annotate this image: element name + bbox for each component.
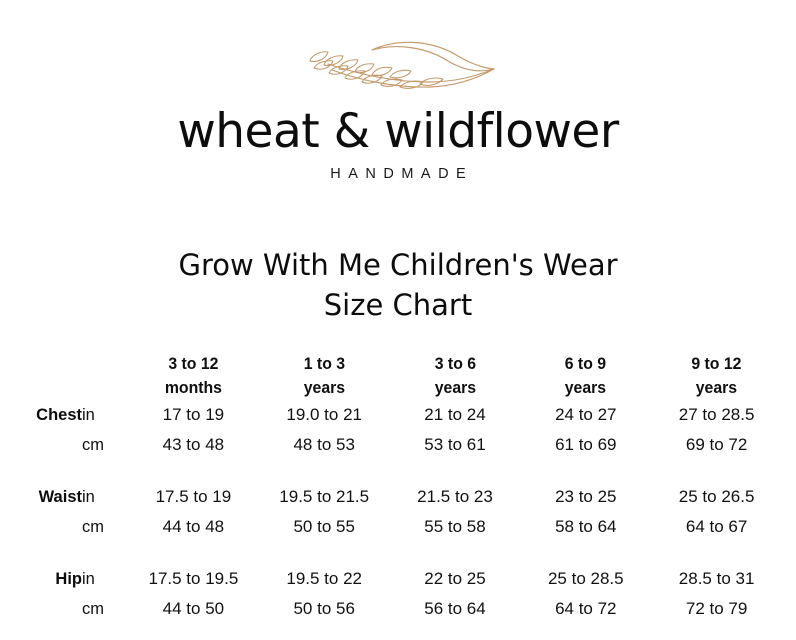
page-title: Grow With Me Children's Wear Size Chart: [0, 246, 796, 325]
column-header-line-2: years: [525, 376, 647, 400]
unit-label-in: in: [82, 400, 128, 430]
table-header: 3 to 12 months 1 to 3 years 3 to 6 years…: [14, 352, 782, 400]
cell-waist-in-9-to-12-years: 25 to 26.5: [651, 482, 782, 512]
column-header-line-1: 1 to 3: [263, 352, 385, 376]
column-header-line-1: 3 to 12: [133, 352, 255, 376]
row-spacer-cell: [14, 542, 82, 564]
row-spacer-cell: [128, 542, 259, 564]
cell-chest-cm-9-to-12-years: 69 to 72: [651, 430, 782, 460]
cell-hip-in-6-to-9-years: 25 to 28.5: [520, 564, 651, 594]
row-spacer-cell: [128, 460, 259, 482]
cell-waist-cm-6-to-9-years: 58 to 64: [520, 512, 651, 542]
column-header-line-1: 3 to 6: [394, 352, 516, 376]
page-title-line-1: Grow With Me Children's Wear: [0, 246, 796, 286]
cell-waist-cm-3-to-6-years: 55 to 58: [390, 512, 521, 542]
cell-hip-cm-3-to-12-months: 44 to 50: [128, 594, 259, 624]
row-spacer-cell: [82, 460, 128, 482]
row-spacer: [14, 460, 782, 482]
column-header-line-1: 9 to 12: [656, 352, 778, 376]
row-spacer-cell: [82, 542, 128, 564]
row-spacer-cell: [651, 460, 782, 482]
cell-chest-cm-3-to-12-months: 43 to 48: [128, 430, 259, 460]
brand-name: wheat & wildflower: [0, 108, 796, 156]
page-title-line-2: Size Chart: [0, 286, 796, 326]
column-header-3-to-12-months: 3 to 12 months: [133, 352, 255, 400]
table-row: cm 43 to 48 48 to 53 53 to 61 61 to 69 6…: [14, 430, 782, 460]
size-chart-page: wheat & wildflower HANDMADE Grow With Me…: [0, 0, 796, 640]
cell-waist-cm-9-to-12-years: 64 to 67: [651, 512, 782, 542]
row-spacer-cell: [259, 460, 390, 482]
row-spacer-cell: [390, 460, 521, 482]
cell-hip-cm-3-to-6-years: 56 to 64: [390, 594, 521, 624]
cell-hip-cm-1-to-3-years: 50 to 56: [259, 594, 390, 624]
brand-tagline: HANDMADE: [0, 166, 796, 182]
table-unit-header-cell: [82, 352, 128, 400]
table-row: cm 44 to 50 50 to 56 56 to 64 64 to 72 7…: [14, 594, 782, 624]
cell-chest-cm-6-to-9-years: 61 to 69: [520, 430, 651, 460]
column-header-line-2: years: [263, 376, 385, 400]
cell-waist-cm-1-to-3-years: 50 to 55: [259, 512, 390, 542]
cell-hip-cm-9-to-12-years: 72 to 79: [651, 594, 782, 624]
cell-chest-in-3-to-12-months: 17 to 19: [128, 400, 259, 430]
cell-hip-in-3-to-6-years: 22 to 25: [390, 564, 521, 594]
cell-waist-in-3-to-6-years: 21.5 to 23: [390, 482, 521, 512]
cell-chest-cm-3-to-6-years: 53 to 61: [390, 430, 521, 460]
row-label-waist-continued: [14, 512, 82, 542]
row-label-chest-continued: [14, 430, 82, 460]
row-label-hip: Hip: [14, 564, 82, 594]
column-header-3-to-6-years: 3 to 6 years: [394, 352, 516, 400]
column-header-1-to-3-years: 1 to 3 years: [263, 352, 385, 400]
cell-hip-in-1-to-3-years: 19.5 to 22: [259, 564, 390, 594]
cell-waist-cm-3-to-12-months: 44 to 48: [128, 512, 259, 542]
row-spacer-cell: [14, 460, 82, 482]
column-header-9-to-12-years: 9 to 12 years: [656, 352, 778, 400]
row-spacer: [14, 542, 782, 564]
row-spacer-cell: [651, 542, 782, 564]
row-label-chest: Chest: [14, 400, 82, 430]
table-header-row: 3 to 12 months 1 to 3 years 3 to 6 years…: [14, 352, 782, 400]
cell-waist-in-6-to-9-years: 23 to 25: [520, 482, 651, 512]
cell-hip-cm-6-to-9-years: 64 to 72: [520, 594, 651, 624]
table-row: cm 44 to 48 50 to 55 55 to 58 58 to 64 6…: [14, 512, 782, 542]
cell-hip-in-9-to-12-years: 28.5 to 31: [651, 564, 782, 594]
row-label-hip-continued: [14, 594, 82, 624]
cell-hip-in-3-to-12-months: 17.5 to 19.5: [128, 564, 259, 594]
row-label-waist: Waist: [14, 482, 82, 512]
cell-chest-in-6-to-9-years: 24 to 27: [520, 400, 651, 430]
column-header-line-2: months: [133, 376, 255, 400]
column-header-6-to-9-years: 6 to 9 years: [525, 352, 647, 400]
cell-chest-cm-1-to-3-years: 48 to 53: [259, 430, 390, 460]
row-spacer-cell: [520, 460, 651, 482]
cell-waist-in-1-to-3-years: 19.5 to 21.5: [259, 482, 390, 512]
wheat-stalk-icon: [298, 34, 498, 96]
row-spacer-cell: [520, 542, 651, 564]
cell-chest-in-1-to-3-years: 19.0 to 21: [259, 400, 390, 430]
table-body: Chest in 17 to 19 19.0 to 21 21 to 24 24…: [14, 400, 782, 624]
table-row: Waist in 17.5 to 19 19.5 to 21.5 21.5 to…: [14, 482, 782, 512]
unit-label-cm: cm: [82, 594, 128, 624]
unit-label-in: in: [82, 482, 128, 512]
cell-chest-in-9-to-12-years: 27 to 28.5: [651, 400, 782, 430]
brand-header: wheat & wildflower HANDMADE: [0, 34, 796, 182]
column-header-line-2: years: [394, 376, 516, 400]
column-header-line-1: 6 to 9: [525, 352, 647, 376]
cell-chest-in-3-to-6-years: 21 to 24: [390, 400, 521, 430]
unit-label-cm: cm: [82, 512, 128, 542]
size-chart-table: 3 to 12 months 1 to 3 years 3 to 6 years…: [14, 352, 782, 624]
table-row: Hip in 17.5 to 19.5 19.5 to 22 22 to 25 …: [14, 564, 782, 594]
column-header-line-2: years: [656, 376, 778, 400]
cell-waist-in-3-to-12-months: 17.5 to 19: [128, 482, 259, 512]
table-row: Chest in 17 to 19 19.0 to 21 21 to 24 24…: [14, 400, 782, 430]
row-spacer-cell: [390, 542, 521, 564]
table-corner-cell: [14, 352, 82, 400]
row-spacer-cell: [259, 542, 390, 564]
unit-label-cm: cm: [82, 430, 128, 460]
unit-label-in: in: [82, 564, 128, 594]
